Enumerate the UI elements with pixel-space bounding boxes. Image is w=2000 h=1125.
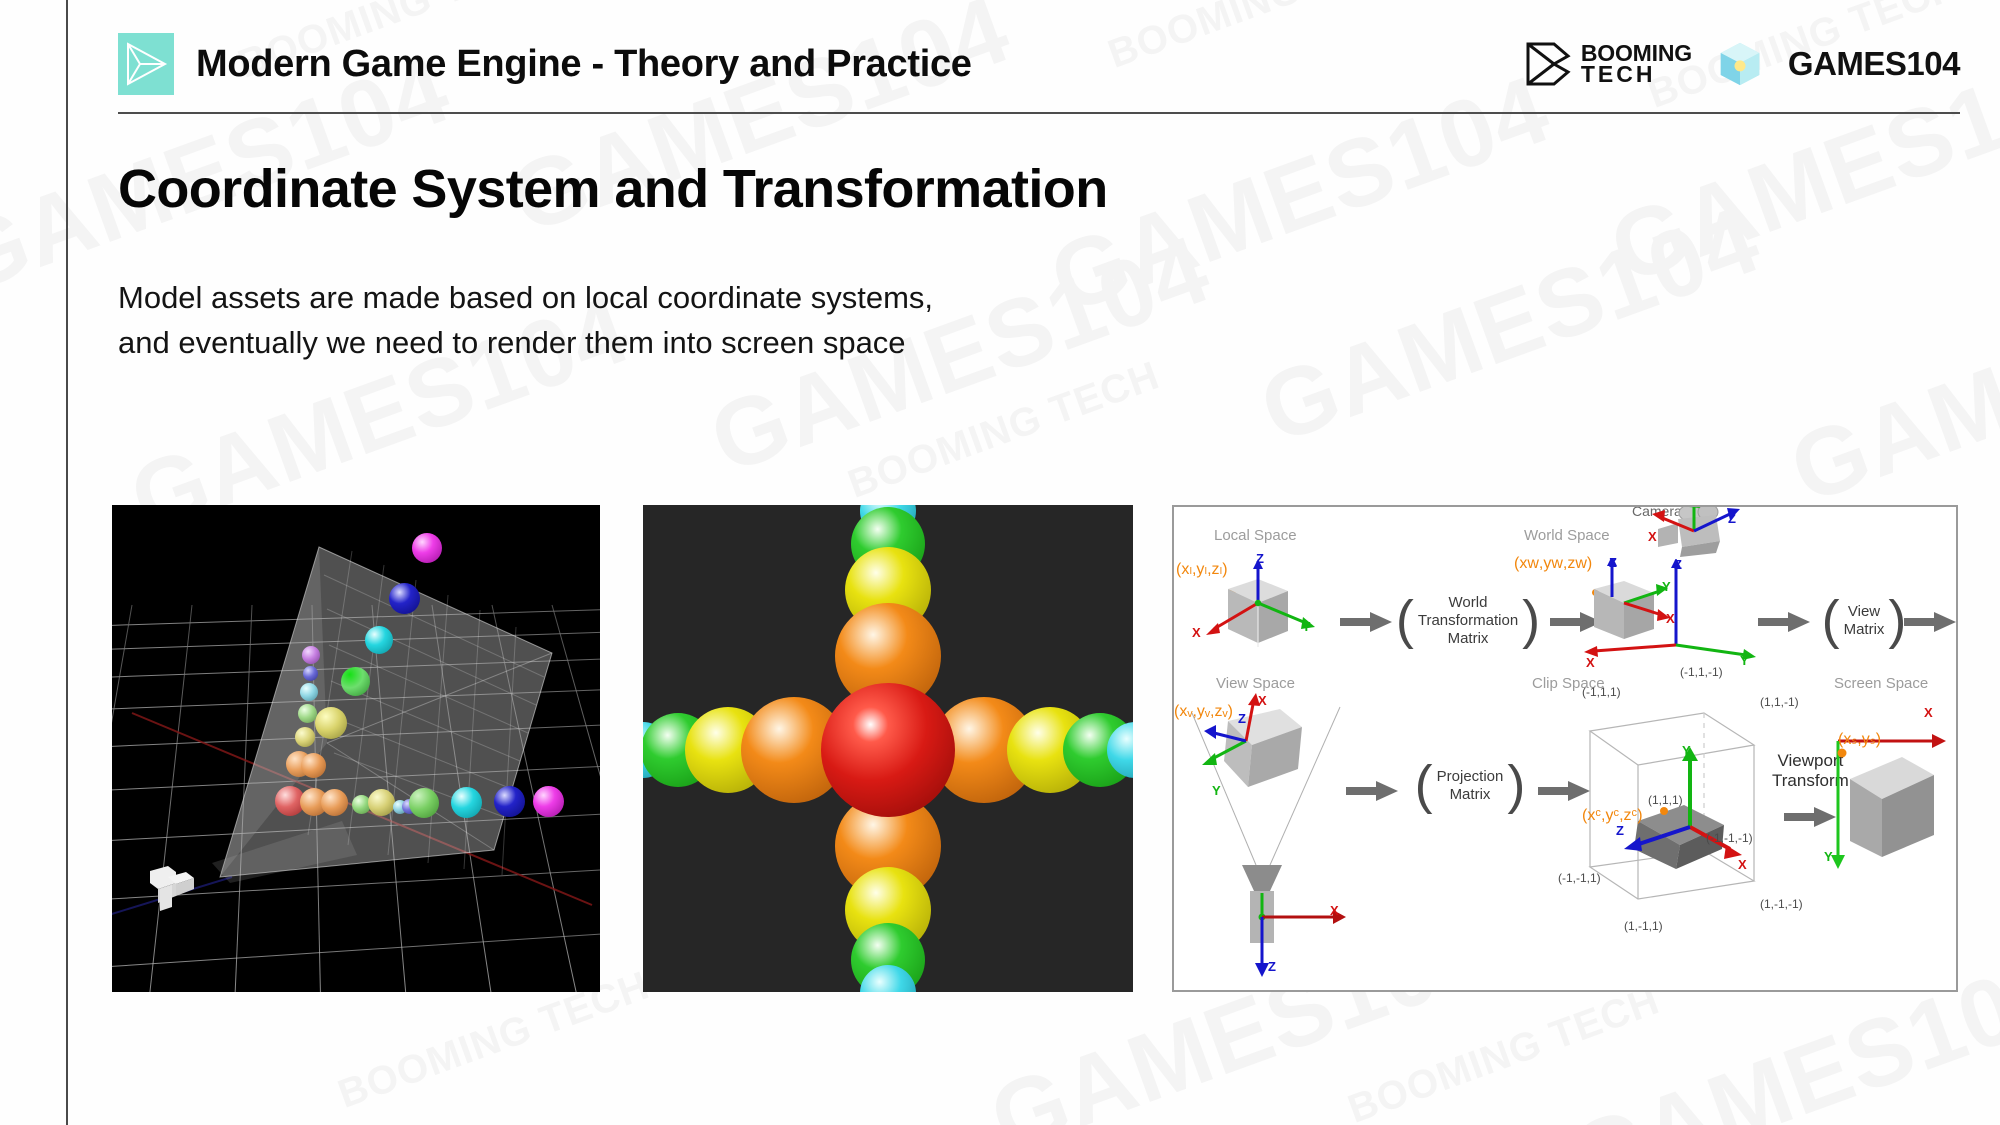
sphere-orange-row-2: [321, 789, 348, 816]
axis-label-x: X: [1666, 611, 1675, 626]
slide-header: Modern Game Engine - Theory and Practice…: [118, 28, 1960, 100]
sphere-lightgreen-col: [298, 704, 317, 723]
slide-canvas: GAMES104 GAMES104 GAMES104 GAMES104 GAME…: [0, 0, 2000, 1125]
figure-transform-pipeline: Local Space (xₗ,yₗ,zₗ) Z X Y ( World: [1172, 505, 1958, 992]
axis-label-y: Y: [1662, 579, 1671, 594]
axis-label-x: X: [1586, 655, 1595, 670]
sphere-cyan-row: [451, 787, 482, 818]
sphere-violet-col: [302, 646, 320, 664]
matrix-view-text: View Matrix: [1844, 603, 1885, 639]
clip-vertex-label: (1,-1,-1): [1760, 897, 1803, 911]
body-paragraph: Model assets are made based on local coo…: [118, 275, 933, 366]
sphere-green-mid: [341, 667, 370, 696]
axis-label-y: Y: [1212, 783, 1221, 798]
axis-label-x: X: [1648, 529, 1657, 544]
header-divider: [118, 112, 1960, 114]
axis-label-z: Z: [1238, 711, 1246, 726]
transform-gizmo-icon: [146, 863, 198, 911]
bracket-left: (: [1818, 599, 1844, 642]
axis-label-y: Y: [1682, 743, 1691, 758]
booming-tech-wordmark: BOOMING TECH: [1581, 43, 1692, 86]
header-logos: BOOMING TECH GAMES104: [1524, 40, 1960, 88]
label-screen-space: Screen Space: [1834, 675, 1928, 692]
cube-local-space: [1196, 559, 1326, 654]
clip-vertex-label: (1,1,-1): [1760, 695, 1799, 709]
sphere-green-row-2: [409, 788, 439, 818]
sphere-khaki-col: [295, 727, 315, 747]
matrix-projection: ( Projection Matrix ): [1406, 755, 1534, 817]
sphere-cyan-top: [365, 626, 393, 654]
label-local-space: Local Space: [1214, 527, 1297, 544]
axis-label-z: Z: [1674, 557, 1682, 572]
games104-wordmark: GAMES104: [1788, 45, 1960, 83]
camera-icon: [1620, 505, 1740, 563]
sphere-indigo-col: [303, 666, 318, 681]
coord-screen: (xₛ,yₛ): [1838, 729, 1881, 749]
translucent-clip-plane: [112, 505, 600, 992]
clip-vertex-label: (1,1,1): [1648, 793, 1683, 807]
cube-world-space: [1564, 559, 1764, 659]
axis-label-z: Z: [1728, 511, 1736, 526]
sphere-orange-col-2: [301, 753, 326, 778]
figure-sphere-cross: [643, 505, 1133, 992]
sphere-khaki-row: [368, 789, 395, 816]
arrow-right-icon: [1346, 781, 1398, 801]
bracket-left: (: [1392, 599, 1418, 642]
camera-frustum-view-space: [1184, 689, 1354, 979]
matrix-projection-text: Projection Matrix: [1437, 768, 1504, 804]
arrow-right-icon: [1340, 612, 1392, 632]
games104-cube-icon: [1718, 41, 1762, 87]
watermark-games: GAMES104: [1247, 184, 1773, 465]
cube-screen-space: [1794, 697, 1954, 897]
header-title: Modern Game Engine - Theory and Practice: [196, 43, 972, 86]
clip-vertex-label: (-1,-1,-1): [1706, 831, 1753, 845]
axis-label-x: X: [1330, 903, 1339, 918]
sphere-yellow-mid: [315, 707, 347, 739]
bracket-right: ): [1503, 764, 1529, 807]
clip-vertex-label: (-1,-1,1): [1558, 871, 1601, 885]
body-line-2: and eventually we need to render them in…: [118, 320, 933, 365]
left-margin-rule: [66, 0, 68, 1125]
label-world-space: World Space: [1524, 527, 1610, 544]
axis-label-y: Y: [1740, 653, 1749, 668]
cross-sphere-red-center: [821, 683, 955, 817]
coord-clip: (xᶜ,yᶜ,zᶜ): [1582, 807, 1643, 825]
matrix-view: ( View Matrix ): [1816, 591, 1912, 651]
bracket-left: (: [1411, 764, 1437, 807]
axis-label-z: Z: [1609, 555, 1617, 570]
sphere-blue-row: [494, 786, 525, 817]
axis-label-y: Y: [1824, 849, 1833, 864]
page-title: Coordinate System and Transformation: [118, 158, 1108, 220]
watermark-games: GAMES104: [1777, 244, 2000, 525]
sphere-magenta-row: [533, 786, 564, 817]
matrix-world-transformation-text: World Transformation Matrix: [1418, 594, 1518, 648]
arrow-right-icon: [1758, 612, 1810, 632]
axis-label-z: Z: [1256, 551, 1264, 566]
booming-tech-logo: BOOMING TECH: [1524, 40, 1692, 88]
arrow-right-icon: [1904, 612, 1956, 632]
axis-label-x: X: [1924, 705, 1933, 720]
axis-label-x: X: [1738, 857, 1747, 872]
watermark-booming: BOOMING TECH: [843, 355, 1164, 505]
axis-label-z: Z: [1616, 823, 1624, 838]
sphere-blue-top: [389, 583, 420, 614]
axis-label-z: Z: [1268, 959, 1276, 974]
sphere-lightblue-col: [300, 683, 318, 701]
clip-vertex-label: (-1,1,-1): [1680, 665, 1723, 679]
axis-label-x: X: [1258, 693, 1267, 708]
axis-label-y: Y: [1302, 619, 1311, 634]
axis-label-y: Y: [1696, 505, 1705, 508]
body-line-1: Model assets are made based on local coo…: [118, 275, 933, 320]
play-triangle-wireframe-icon: [118, 33, 174, 95]
bracket-right: ): [1518, 599, 1544, 642]
axis-label-x: X: [1192, 625, 1201, 640]
figure-sphere-grid-plane: [112, 505, 600, 992]
sphere-magenta-top: [412, 533, 442, 563]
matrix-world-transformation: ( World Transformation Matrix ): [1400, 585, 1536, 657]
clip-vertex-label: (1,-1,1): [1624, 919, 1663, 933]
watermark-booming: BOOMING TECH: [1343, 980, 1664, 1125]
clip-vertex-label: (-1,1,1): [1582, 685, 1621, 699]
booming-tech-b-icon: [1524, 40, 1572, 88]
